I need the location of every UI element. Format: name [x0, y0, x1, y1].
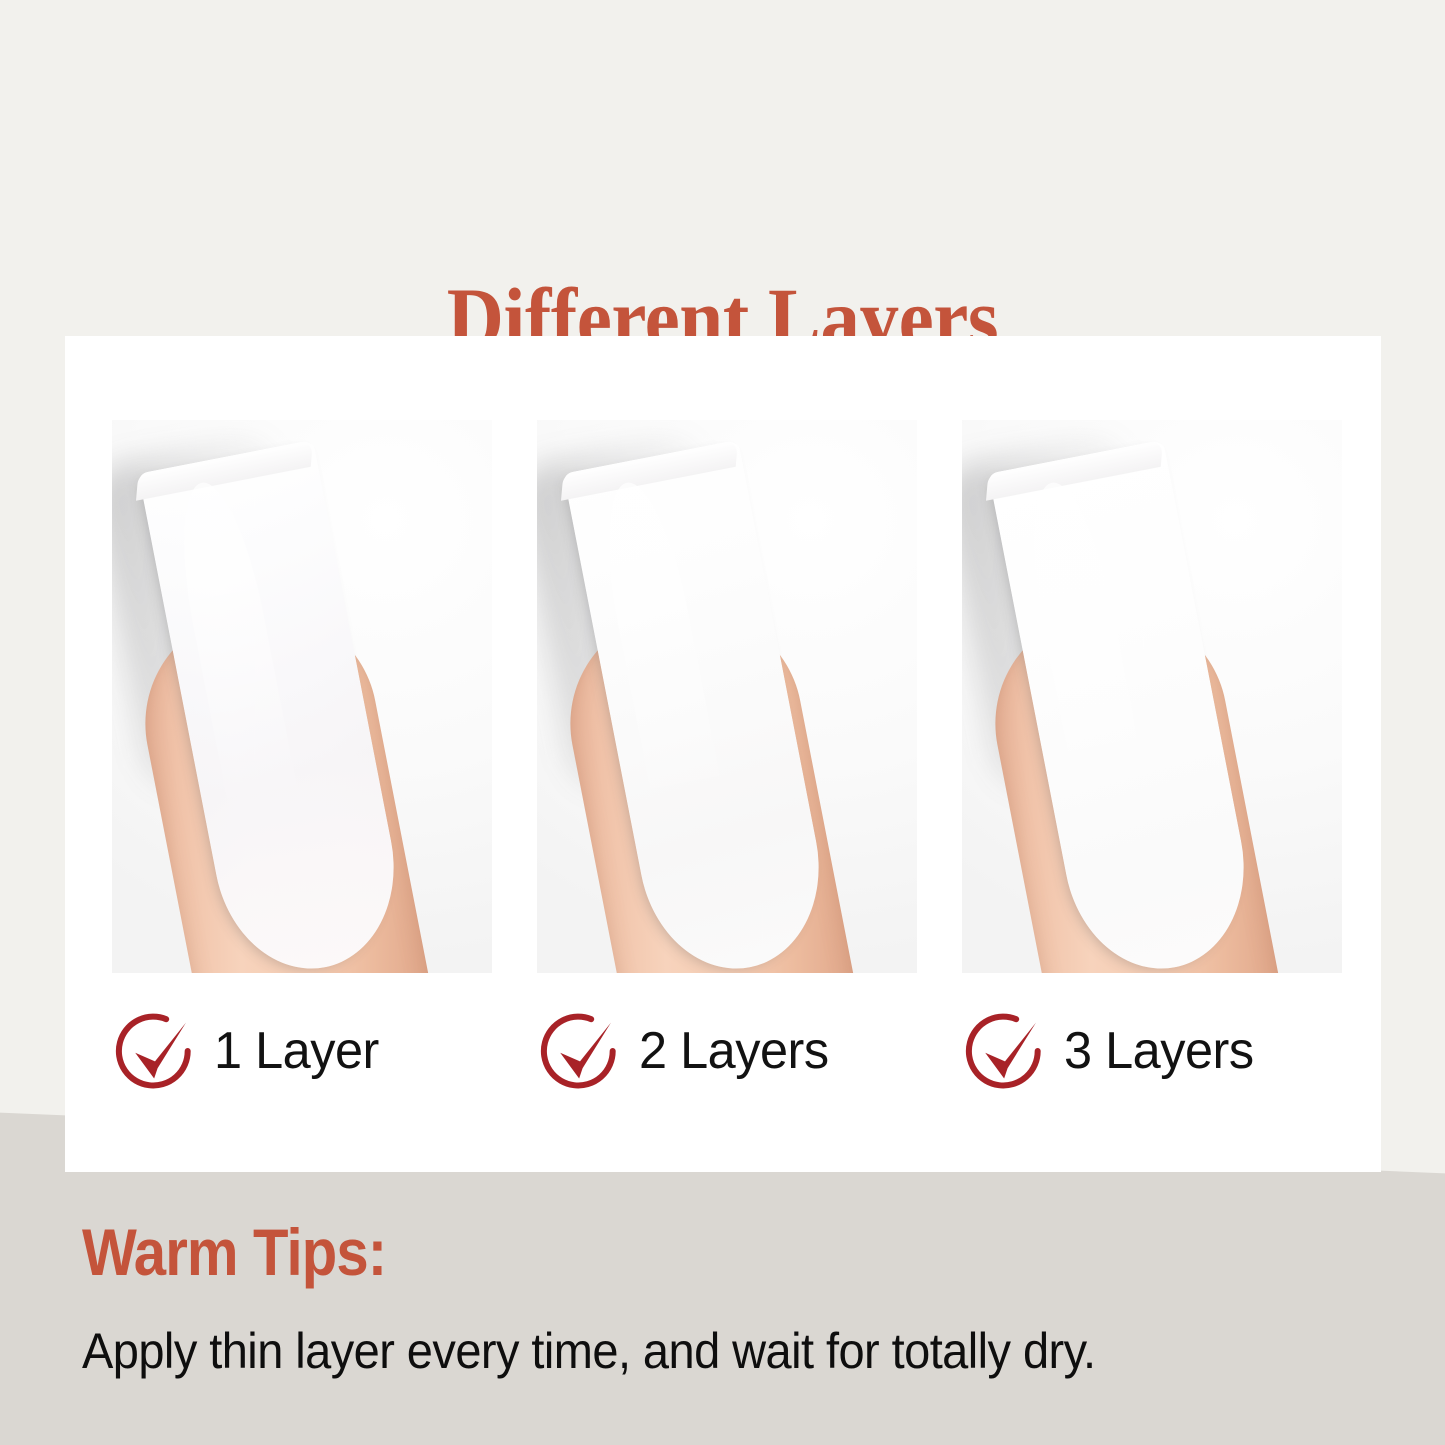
- caption-two-layers: 2 Layers: [537, 996, 917, 1106]
- caption-one-layer: 1 Layer: [112, 996, 492, 1106]
- caption-label: 2 Layers: [639, 1021, 829, 1081]
- nail-photo-one-layer: [112, 420, 492, 973]
- warm-tips-title: Warm Tips:: [82, 1218, 1226, 1287]
- warm-tips-body: Apply thin layer every time, and wait fo…: [82, 1323, 1304, 1379]
- comparison-card: 1 Layer 2 Layers 3 Layers: [65, 336, 1381, 1172]
- warm-tips-section: Warm Tips: Apply thin layer every time, …: [82, 1218, 1382, 1379]
- caption-label: 1 Layer: [214, 1021, 379, 1081]
- comparison-caption-row: 1 Layer 2 Layers 3 Layers: [112, 996, 1342, 1106]
- caption-label: 3 Layers: [1064, 1021, 1254, 1081]
- check-circle-icon: [962, 1008, 1048, 1094]
- comparison-photo-row: [112, 420, 1342, 973]
- infographic-page: Different Layers Show Different Effects: [0, 0, 1445, 1445]
- nail-photo-three-layers: [962, 420, 1342, 973]
- check-circle-icon: [112, 1008, 198, 1094]
- nail-photo-two-layers: [537, 420, 917, 973]
- caption-three-layers: 3 Layers: [962, 996, 1342, 1106]
- check-circle-icon: [537, 1008, 623, 1094]
